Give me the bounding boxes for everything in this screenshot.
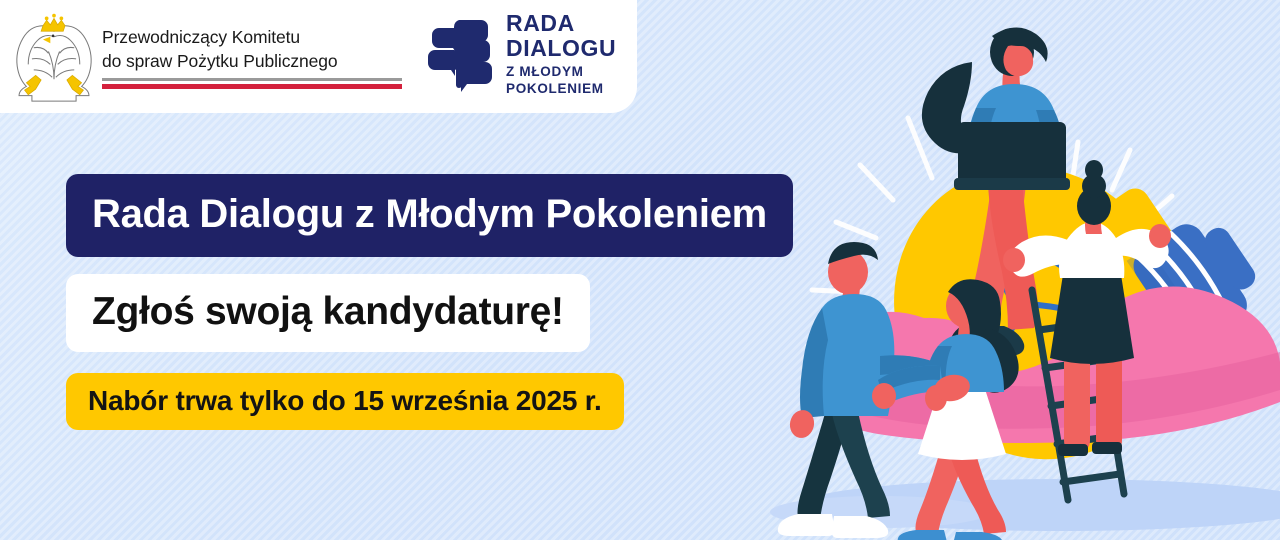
rdmp-wordmark: RADA DIALOGU Z MŁODYM POKOLENIEM (506, 12, 616, 95)
rule-red (102, 84, 402, 89)
promo-banner: Przewodniczący Komitetu do spraw Pożytku… (0, 0, 1280, 540)
banner-subtitle: Zgłoś swoją kandydaturę! (66, 274, 590, 352)
rdmp-line-pokoleniem: POKOLENIEM (506, 82, 616, 96)
speech-bubble-plant-mark (425, 16, 497, 92)
banner-deadline-badge: Nabór trwa tylko do 15 września 2025 r. (66, 373, 624, 430)
lightbulb-teamwork-illustration (760, 0, 1280, 540)
ministry-title-line1: Przewodniczący Komitetu (102, 26, 402, 49)
flag-rule (102, 78, 402, 89)
rule-grey (102, 78, 402, 81)
banner-title: Rada Dialogu z Młodym Pokoleniem (66, 174, 793, 257)
rdmp-logo: RADA DIALOGU Z MŁODYM POKOLENIEM (425, 12, 616, 95)
polish-eagle-emblem (8, 9, 100, 105)
rdmp-line-zmlodym: Z MŁODYM (506, 65, 616, 79)
ministry-title-block: Przewodniczący Komitetu do spraw Pożytku… (102, 24, 402, 88)
banner-text-stack: Rada Dialogu z Młodym Pokoleniem Zgłoś s… (66, 174, 793, 430)
ministry-title-line2: do spraw Pożytku Publicznego (102, 50, 402, 73)
rdmp-line-rada: RADA (506, 12, 616, 35)
header-logo-bar: Przewodniczący Komitetu do spraw Pożytku… (0, 0, 637, 113)
rdmp-line-dialogu: DIALOGU (506, 37, 616, 60)
